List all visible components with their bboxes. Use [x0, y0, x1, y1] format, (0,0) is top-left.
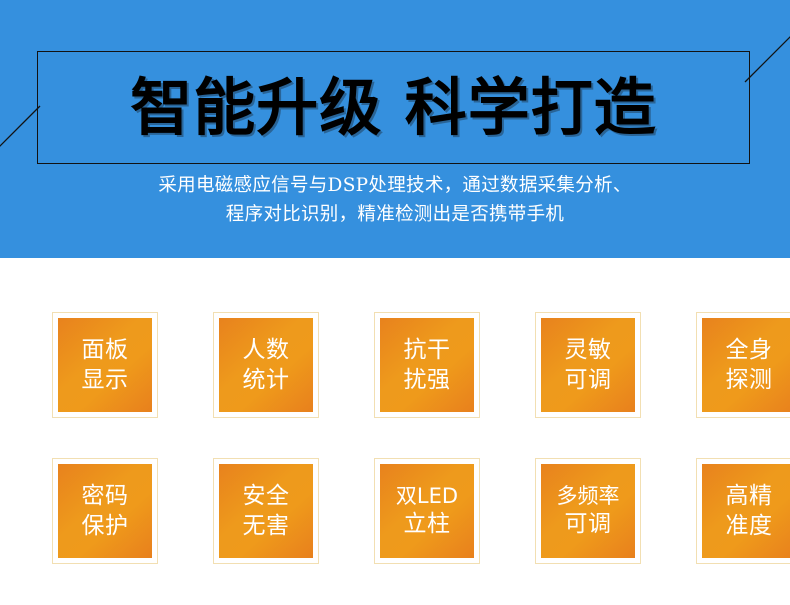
feature-card[interactable]: 密码 保护 [52, 458, 158, 564]
feature-label-line-2: 无害 [243, 512, 290, 540]
feature-card-body: 灵敏 可调 [541, 318, 635, 412]
feature-label-line-1: 安全 [243, 482, 290, 510]
feature-label-line-2: 统计 [243, 366, 290, 394]
feature-card[interactable]: 安全 无害 [213, 458, 319, 564]
promo-page: 智能升级 科学打造 采用电磁感应信号与DSP处理技术，通过数据采集分析、 程序对… [0, 0, 790, 605]
feature-card[interactable]: 双LED 立柱 [374, 458, 480, 564]
diagonal-line-icon-left [0, 106, 40, 150]
feature-card-body: 全身 探测 [702, 318, 790, 412]
feature-label-line-2: 准度 [726, 512, 773, 540]
feature-label-line-2: 保护 [82, 512, 129, 540]
feature-label-line-1: 灵敏 [565, 336, 612, 364]
hero-subtitle-line-1: 采用电磁感应信号与DSP处理技术，通过数据采集分析、 [0, 172, 790, 201]
feature-card[interactable]: 人数 统计 [213, 312, 319, 418]
feature-label-line-2: 可调 [565, 366, 612, 394]
feature-label-line-2: 可调 [565, 510, 612, 538]
feature-label-line-2: 立柱 [404, 510, 451, 538]
feature-card[interactable]: 面板 显示 [52, 312, 158, 418]
page-title: 智能升级 科学打造 [37, 51, 750, 164]
hero-subtitle-line-2: 程序对比识别，精准检测出是否携带手机 [0, 201, 790, 230]
feature-card[interactable]: 抗干 扰强 [374, 312, 480, 418]
feature-grid-row: 面板 显示 人数 统计 抗干 扰强 灵敏 可调 [52, 312, 738, 418]
feature-card[interactable]: 多频率 可调 [535, 458, 641, 564]
feature-label-line-1: 双LED [396, 484, 458, 510]
feature-card-body: 密码 保护 [58, 464, 152, 558]
feature-card-body: 抗干 扰强 [380, 318, 474, 412]
feature-label-line-1: 密码 [82, 482, 129, 510]
feature-label-line-1: 面板 [82, 336, 129, 364]
feature-card-body: 高精 准度 [702, 464, 790, 558]
feature-grid: 面板 显示 人数 统计 抗干 扰强 灵敏 可调 [52, 312, 738, 564]
feature-card-body: 双LED 立柱 [380, 464, 474, 558]
diagonal-line-icon-right [745, 33, 790, 82]
feature-label-line-2: 扰强 [404, 366, 451, 394]
feature-label-line-1: 高精 [726, 482, 773, 510]
feature-label-line-1: 抗干 [404, 336, 451, 364]
feature-card-body: 安全 无害 [219, 464, 313, 558]
feature-card-body: 多频率 可调 [541, 464, 635, 558]
hero-banner: 智能升级 科学打造 采用电磁感应信号与DSP处理技术，通过数据采集分析、 程序对… [0, 0, 790, 258]
feature-card[interactable]: 全身 探测 [696, 312, 790, 418]
feature-card-body: 人数 统计 [219, 318, 313, 412]
feature-card[interactable]: 高精 准度 [696, 458, 790, 564]
hero-subtitle: 采用电磁感应信号与DSP处理技术，通过数据采集分析、 程序对比识别，精准检测出是… [0, 172, 790, 229]
feature-label-line-1: 人数 [243, 336, 290, 364]
feature-label-line-2: 显示 [82, 366, 129, 394]
feature-card[interactable]: 灵敏 可调 [535, 312, 641, 418]
feature-label-line-1: 全身 [726, 336, 773, 364]
feature-label-line-2: 探测 [726, 366, 773, 394]
feature-card-body: 面板 显示 [58, 318, 152, 412]
feature-grid-row: 密码 保护 安全 无害 双LED 立柱 多频率 可调 [52, 458, 738, 564]
feature-label-line-1: 多频率 [557, 484, 620, 510]
